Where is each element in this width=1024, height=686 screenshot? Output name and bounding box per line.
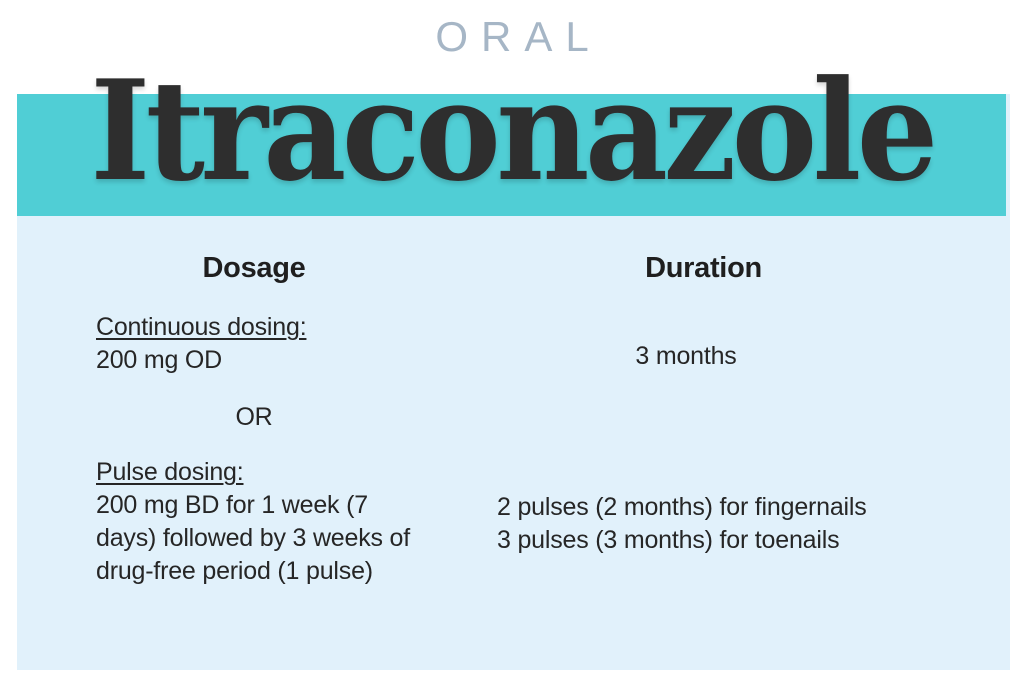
- continuous-dosing-cell: Continuous dosing: 200 mg OD: [96, 311, 446, 377]
- page-title: Itraconazole: [36, 62, 988, 200]
- continuous-duration-cell: 3 months: [431, 340, 941, 373]
- continuous-dosing-value: 200 mg OD: [96, 344, 446, 377]
- column-header-duration: Duration: [431, 254, 976, 283]
- column-header-dosage: Dosage: [76, 254, 432, 283]
- pulse-dosing-cell: Pulse dosing: 200 mg BD for 1 week (7 da…: [96, 456, 461, 588]
- dosage-table: Dosage Duration Continuous dosing: 200 m…: [17, 216, 1010, 670]
- pulse-dosing-label: Pulse dosing:: [96, 456, 461, 489]
- pulse-dosing-line-3: drug-free period (1 pulse): [96, 555, 461, 588]
- pulse-duration-cell: 2 pulses (2 months) for fingernails 3 pu…: [497, 491, 997, 557]
- or-separator: OR: [96, 401, 412, 434]
- pulse-dosing-line-2: days) followed by 3 weeks of: [96, 522, 461, 555]
- pulse-dosing-line-1: 200 mg BD for 1 week (7: [96, 489, 461, 522]
- pulse-duration-line-2: 3 pulses (3 months) for toenails: [497, 524, 997, 557]
- continuous-dosing-label: Continuous dosing:: [96, 311, 446, 344]
- pulse-duration-line-1: 2 pulses (2 months) for fingernails: [497, 491, 997, 524]
